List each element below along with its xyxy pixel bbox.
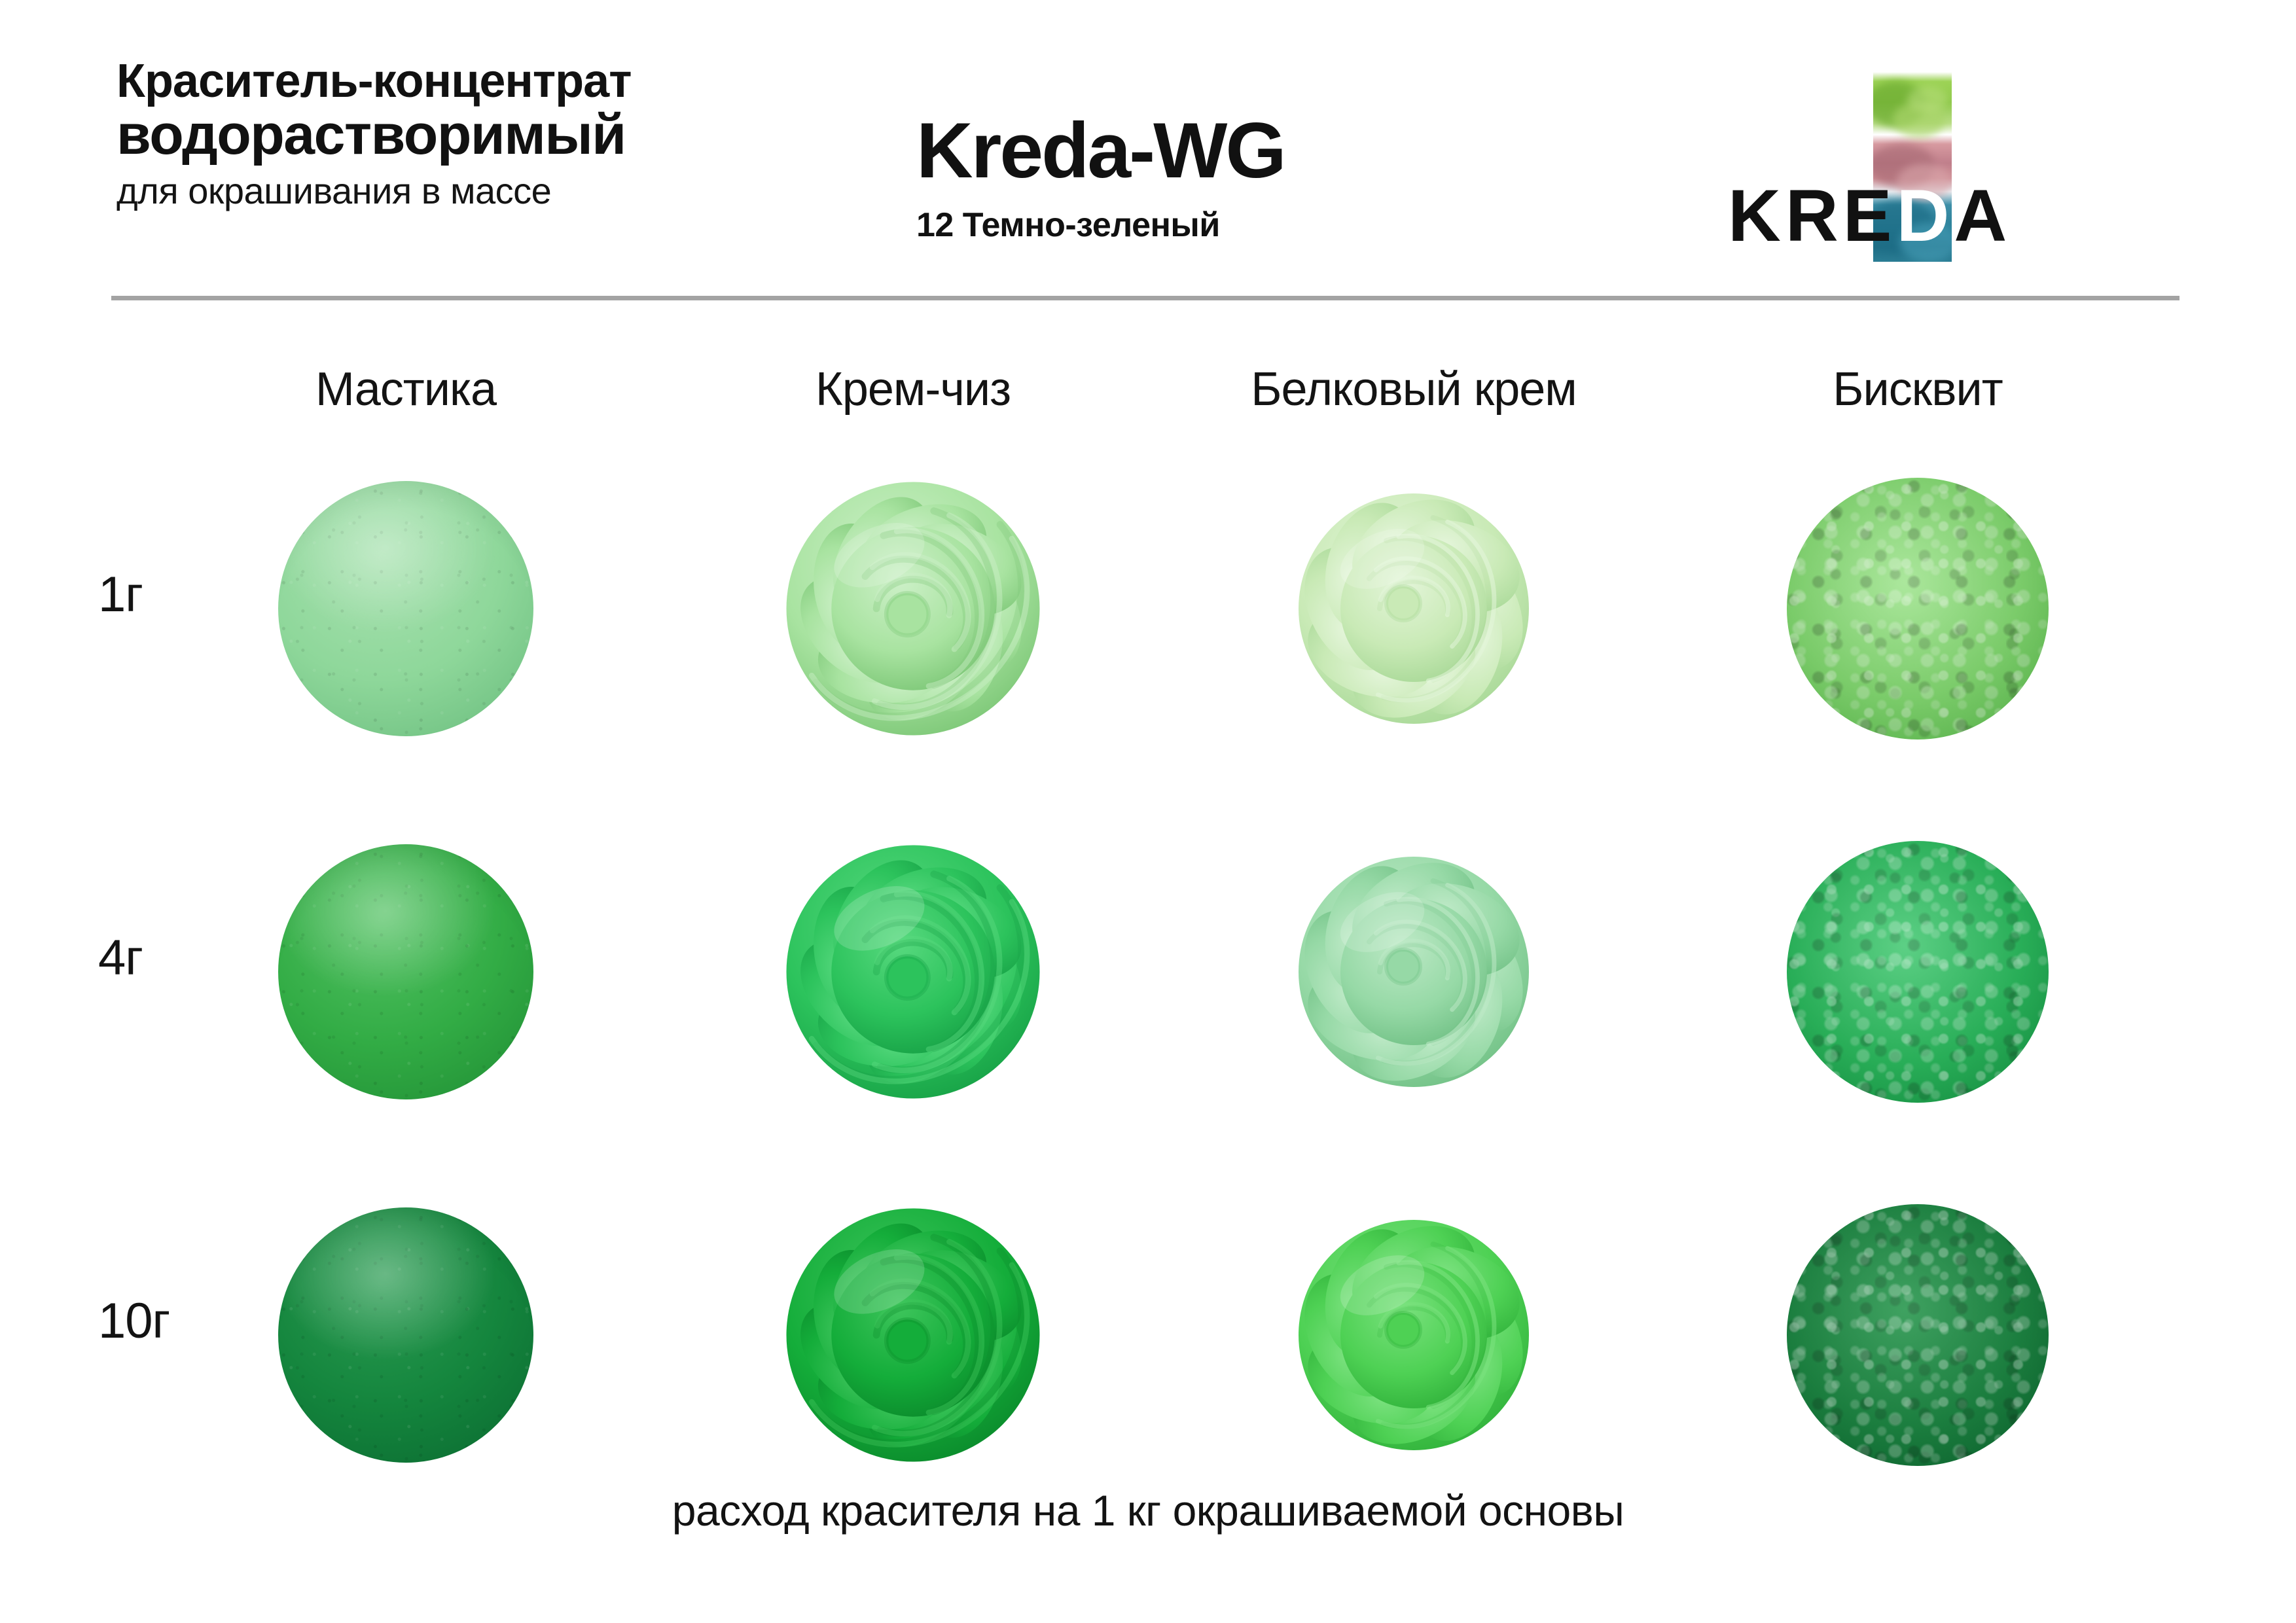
protein-cream-rosette — [1283, 1204, 1545, 1466]
swatch-бисквит-4г — [1787, 841, 2049, 1103]
swatch-grid: Мастика Крем-чиз Белковый крем Бисквит 1… — [0, 314, 2296, 1479]
column-header-protein-cream: Белковый крем — [1244, 360, 1584, 419]
header-line-1: Краситель-концентрат — [117, 58, 876, 105]
footer-note: расход красителя на 1 кг окрашиваемой ос… — [0, 1486, 2296, 1535]
swatch-белковый-крем-4г — [1283, 841, 1545, 1103]
swatch-бисквит-10г — [1787, 1204, 2049, 1466]
swatch-крем-чиз-4г — [772, 831, 1054, 1113]
column-header-biscuit: Бисквит — [1774, 360, 2062, 419]
logo-letter-a: A — [1954, 175, 2011, 257]
mastic-texture — [278, 844, 533, 1099]
swatch-бисквит-1г — [1787, 478, 2049, 740]
product-name: Kreda-WG — [916, 111, 1285, 190]
mastic-texture — [278, 481, 533, 736]
protein-cream-rosette — [1283, 478, 1545, 740]
biscuit-crumb-disc — [1787, 841, 2049, 1103]
row-label-10g: 10г — [98, 1293, 268, 1349]
swatch-крем-чиз-10г — [772, 1194, 1054, 1476]
crumb-texture — [1787, 841, 2049, 1103]
mastic-ball — [278, 481, 533, 736]
column-header-cream-cheese: Крем-чиз — [730, 360, 1096, 419]
header-divider — [111, 296, 2179, 300]
cream-cheese-rosette — [772, 831, 1054, 1113]
cream-cheese-rosette — [772, 468, 1054, 749]
logo-letter-r: R — [1785, 175, 1843, 257]
product-title-block: Kreda-WG 12 Темно-зеленый — [916, 111, 1285, 242]
swatch-крем-чиз-1г — [772, 468, 1054, 749]
cream-cheese-rosette — [772, 1194, 1054, 1476]
swatch-мастика-4г — [278, 844, 533, 1099]
swatch-белковый-крем-1г — [1283, 478, 1545, 740]
kreda-logo: KREDA — [1728, 72, 2029, 262]
page-header: Краситель-концентрат водорастворимый для… — [0, 0, 2296, 308]
crumb-texture — [1787, 478, 2049, 740]
swatch-белковый-крем-10г — [1283, 1204, 1545, 1466]
row-label-4g: 4г — [98, 929, 268, 986]
logo-letter-k: K — [1728, 175, 1785, 257]
column-header-mastic: Мастика — [252, 360, 560, 419]
logo-letter-e: E — [1843, 175, 1897, 257]
row-label-1g: 1г — [98, 566, 268, 623]
biscuit-crumb-disc — [1787, 1204, 2049, 1466]
product-shade: 12 Темно-зеленый — [916, 208, 1285, 242]
mastic-texture — [278, 1207, 533, 1463]
header-line-2: водорастворимый — [117, 107, 876, 164]
header-left-block: Краситель-концентрат водорастворимый для… — [117, 58, 876, 211]
protein-cream-rosette — [1283, 841, 1545, 1103]
crumb-texture — [1787, 1204, 2049, 1466]
logo-wordmark: KREDA — [1728, 170, 2029, 262]
swatch-мастика-10г — [278, 1207, 533, 1463]
logo-letter-d: D — [1896, 175, 1954, 257]
header-line-3: для окрашивания в массе — [117, 172, 876, 211]
mastic-ball — [278, 844, 533, 1099]
biscuit-crumb-disc — [1787, 478, 2049, 740]
swatch-мастика-1г — [278, 481, 533, 736]
mastic-ball — [278, 1207, 533, 1463]
